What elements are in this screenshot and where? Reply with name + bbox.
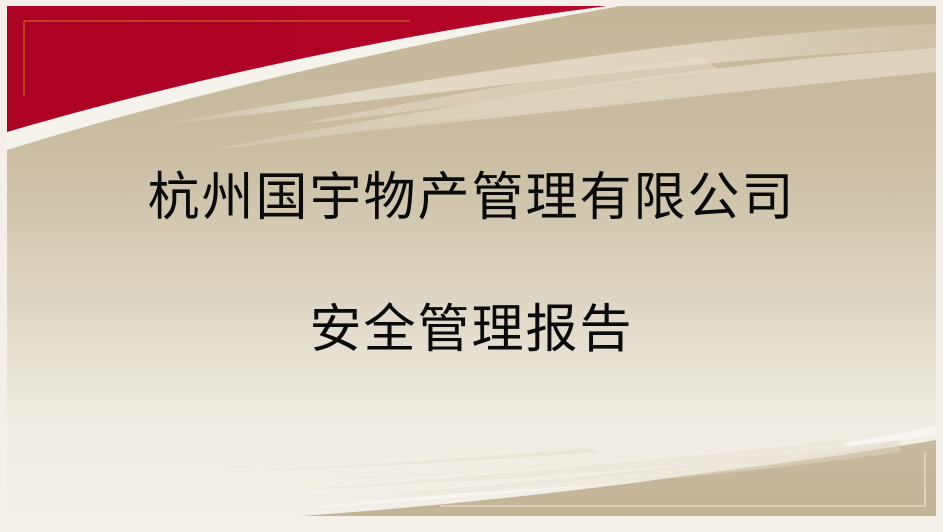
slide-background-graphics xyxy=(0,0,943,532)
title-slide: 杭州国宇物产管理有限公司 安全管理报告 xyxy=(0,0,943,532)
